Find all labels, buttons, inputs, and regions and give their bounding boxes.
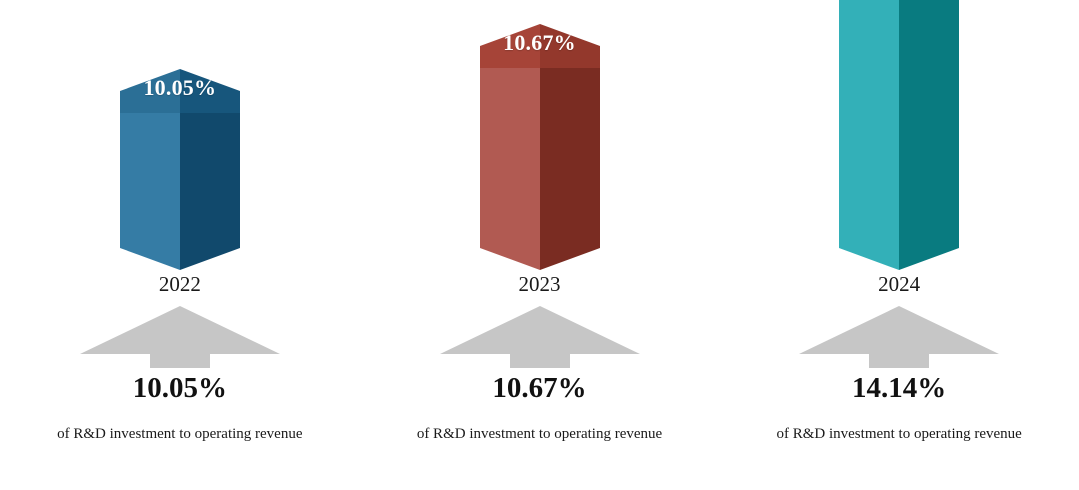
bar-right-face	[540, 68, 600, 248]
caption-2022: of R&D investment to operating revenue	[54, 424, 306, 444]
bar-side-faces	[120, 113, 240, 248]
value-text-2024: 14.14%	[719, 372, 1079, 405]
caption-line-1: of R&D investment to operating	[776, 426, 970, 442]
bar-right-face	[180, 113, 240, 248]
year-label-2024: 2024	[719, 272, 1079, 297]
bar-bottom-face	[480, 248, 600, 270]
caption-2024: of R&D investment to operating revenue	[773, 424, 1025, 444]
bar-bottom-face	[120, 248, 240, 270]
arrow-up-icon	[80, 306, 280, 368]
bar-side-faces	[480, 68, 600, 248]
bar-3d-2023[interactable]: 10.67%	[480, 24, 600, 270]
bar-left-face	[120, 113, 180, 248]
year-label-2023: 2023	[360, 272, 720, 297]
arrow-up-icon	[799, 306, 999, 368]
year-label-2022: 2022	[0, 272, 360, 297]
bar-bottom-face	[839, 248, 959, 270]
bar-right-face	[899, 0, 959, 248]
bar-3d-2024[interactable]: 14.14%	[839, 0, 959, 270]
bar-top-face	[480, 24, 600, 68]
caption-line-2: revenue	[255, 426, 302, 442]
caption-line-2: revenue	[974, 426, 1021, 442]
caption-line-2: revenue	[615, 426, 662, 442]
bar-top-face	[120, 69, 240, 113]
bar-zone: 10.67%	[360, 0, 720, 270]
value-text-2022: 10.05%	[0, 372, 360, 405]
caption-2023: of R&D investment to operating revenue	[414, 424, 666, 444]
caption-line-1: of R&D investment to operating	[417, 426, 611, 442]
bar-left-face	[480, 68, 540, 248]
value-text-2023: 10.67%	[360, 372, 720, 405]
bar-zone: 10.05%	[0, 0, 360, 270]
caption-line-1: of R&D investment to operating	[57, 426, 251, 442]
infographic-bar-chart: 10.05% 2022	[0, 0, 1079, 490]
bar-zone: 14.14%	[719, 0, 1079, 270]
arrow-up-icon	[440, 306, 640, 368]
chart-column-2022: 10.05% 2022	[0, 0, 360, 490]
bar-left-face	[839, 0, 899, 248]
bar-3d-2022[interactable]: 10.05%	[120, 69, 240, 270]
chart-column-2023: 10.67% 2023	[360, 0, 720, 490]
bar-side-faces	[839, 0, 959, 248]
chart-column-2024: 14.14% 2024	[719, 0, 1079, 490]
